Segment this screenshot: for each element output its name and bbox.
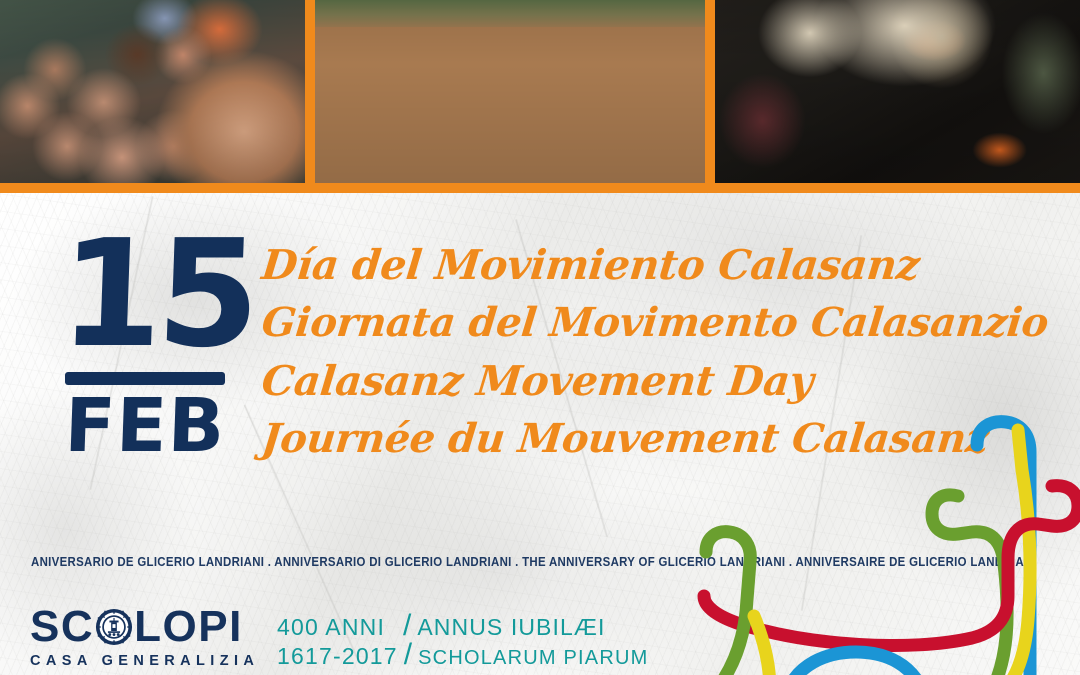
jubilee-row-1: 400 ANNI / ANNUS IUBILÆI (277, 612, 648, 641)
headline-italian: Giornata del Movimento Calasanzio (259, 294, 1025, 352)
jubilee-separator: / (404, 641, 412, 668)
jubilee-latin-subtitle: SCHOLARUM PIARUM (418, 645, 648, 672)
jubilee-year-range: 1617-2017 (277, 643, 398, 670)
date-day: 15 (58, 226, 233, 362)
photo-group-selfie (0, 0, 305, 183)
scolopi-word-part2: LOPI (134, 606, 243, 648)
photo-shade (0, 0, 305, 183)
photo-children-schoolyard (315, 0, 705, 183)
scolopi-wordmark: SC (30, 606, 259, 648)
scolopi-word-part1: SC (30, 606, 94, 648)
orange-divider-band (0, 183, 1080, 193)
scolopi-seal-icon (95, 608, 133, 646)
calasanz-movement-ribbon-logo (620, 400, 1080, 675)
date-month: FEB (59, 391, 231, 461)
jubilee-row-2: 1617-2017 / SCHOLARUM PIARUM (277, 641, 648, 672)
jubilee-years-label: 400 ANNI (277, 614, 397, 641)
photo-gathering-calasanz (715, 0, 1080, 183)
jubilee-lockup: 400 ANNI / ANNUS IUBILÆI 1617-2017 / SCH… (277, 612, 648, 672)
jubilee-separator: / (403, 612, 411, 639)
photo-shade (715, 0, 1080, 183)
photo-shade (315, 0, 705, 183)
date-block: 15 FEB (60, 226, 230, 461)
headline-spanish: Día del Movimiento Calasanz (259, 236, 1025, 294)
photo-strip (0, 0, 1080, 183)
scolopi-logo: SC (30, 606, 259, 669)
jubilee-latin-title: ANNUS IUBILÆI (417, 614, 605, 641)
poster: 15 FEB Día del Movimiento Calasanz Giorn… (0, 0, 1080, 675)
scolopi-subtitle: CASA GENERALIZIA (30, 653, 259, 669)
